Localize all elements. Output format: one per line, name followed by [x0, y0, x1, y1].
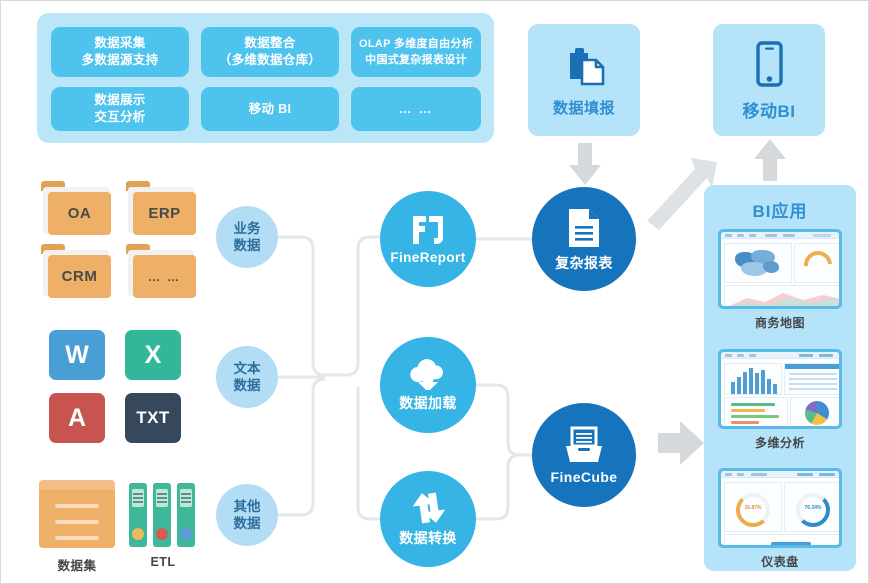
category-business-data[interactable]: 业务 数据 — [216, 206, 278, 268]
process-label: FineReport — [390, 250, 465, 265]
process-data-transform[interactable]: 数据转换 — [380, 471, 476, 567]
process-label: 复杂报表 — [555, 253, 613, 273]
category-line1: 文本 — [234, 360, 261, 377]
binder-dot — [180, 528, 192, 540]
dashboard-toolbar — [721, 232, 839, 239]
swap-arrows-icon — [408, 491, 448, 525]
folder-label: ERP — [133, 192, 196, 235]
dataset-label: 数据集 — [29, 555, 125, 574]
process-finecube[interactable]: FineCube — [532, 403, 636, 507]
source-folder-more[interactable]: … … — [126, 244, 196, 298]
area-chart-pane — [724, 285, 839, 306]
gauge-value: 35.87% — [725, 505, 781, 511]
gauge-pane-right: 76.34% — [784, 482, 839, 532]
capability-card-line1: 数据展示 — [94, 92, 145, 109]
capability-card-line2: （多维数据仓库） — [219, 52, 321, 69]
bi-thumbnail-dashboard[interactable]: 35.87% 76.34% 仪表盘 — [718, 468, 842, 570]
file-tile-word[interactable]: W — [49, 330, 105, 380]
category-line2: 数据 — [234, 377, 261, 394]
binder-line — [181, 497, 191, 499]
clipboard-document-icon — [560, 43, 608, 91]
category-text-data[interactable]: 文本 数据 — [216, 346, 278, 408]
binder-dot — [132, 528, 144, 540]
process-label: FineCube — [551, 469, 618, 485]
dashboard-screen — [721, 232, 839, 306]
source-folder-oa[interactable]: OA — [41, 181, 111, 235]
cabinet-drawer — [55, 520, 99, 524]
capability-card-visualization[interactable]: 数据展示 交互分析 — [51, 87, 189, 131]
source-folder-erp[interactable]: ERP — [126, 181, 196, 235]
capability-card-line1: 移动 BI — [249, 101, 291, 118]
capability-card-data-integration[interactable]: 数据整合 （多维数据仓库） — [201, 27, 339, 77]
footer-pane — [724, 534, 839, 545]
arrow-finecube-to-bi — [658, 421, 704, 465]
process-label: 数据加载 — [399, 393, 457, 413]
dashboard-toolbar — [721, 352, 839, 359]
cabinet-drawer — [55, 504, 99, 508]
finereport-logo-icon — [410, 213, 446, 247]
capability-card-line1: … … — [399, 101, 433, 118]
feature-card-data-entry[interactable]: 数据填报 — [528, 24, 640, 136]
thumbnail-caption: 仪表盘 — [718, 553, 842, 570]
thumbnail-caption: 商务地图 — [718, 314, 842, 331]
gauge-pane-left: 35.87% — [724, 482, 782, 532]
process-complex-report[interactable]: 复杂报表 — [532, 187, 636, 291]
folder-label: … … — [133, 255, 196, 298]
map-pane — [724, 243, 792, 283]
thumbnail-caption: 多维分析 — [718, 434, 842, 451]
capability-card-data-collection[interactable]: 数据采集 多数据源支持 — [51, 27, 189, 77]
capability-card-mobile-bi[interactable]: 移动 BI — [201, 87, 339, 131]
document-lines-icon — [565, 206, 603, 250]
dashboard-screen: 35.87% 76.34% — [721, 471, 839, 545]
binder-line — [181, 493, 191, 495]
dashboard-toolbar — [721, 471, 839, 478]
tray-inbox-icon — [563, 426, 605, 466]
pie-chart-pane — [790, 397, 839, 426]
bi-application-panel: BI应用 — [704, 185, 856, 571]
bi-application-title: BI应用 — [704, 197, 856, 222]
gauge-value: 76.34% — [785, 505, 839, 511]
capability-card-more[interactable]: … … — [351, 87, 481, 131]
process-label: 数据转换 — [399, 528, 457, 548]
dashboard-screen — [721, 352, 839, 426]
arrow-data-entry-to-report — [569, 143, 601, 185]
source-folder-crm[interactable]: CRM — [41, 244, 111, 298]
binder-line — [157, 501, 167, 503]
process-data-load[interactable]: 数据加载 — [380, 337, 476, 433]
mobile-phone-icon — [747, 39, 791, 91]
binder-line — [133, 501, 143, 503]
etl-label: ETL — [125, 555, 201, 569]
cabinet-drawer — [55, 536, 99, 540]
capability-card-line2: 交互分析 — [94, 109, 145, 126]
file-tile-excel[interactable]: X — [125, 330, 181, 380]
table-pane — [784, 363, 839, 395]
thumbnail-frame: 35.87% 76.34% — [718, 468, 842, 548]
category-line2: 数据 — [234, 237, 261, 254]
etl-binders-icon[interactable] — [129, 483, 195, 547]
category-line2: 数据 — [234, 515, 261, 532]
capability-card-line1: 数据采集 — [82, 35, 159, 52]
category-line1: 其他 — [234, 498, 261, 515]
bar-chart-pane — [724, 363, 782, 395]
dataset-cabinet-icon[interactable] — [39, 480, 115, 548]
feature-card-label: 数据填报 — [553, 97, 615, 118]
feature-card-mobile-bi[interactable]: 移动BI — [713, 24, 825, 136]
capability-panel: 数据采集 多数据源支持 数据整合 （多维数据仓库） OLAP 多维度自由分析 中… — [37, 13, 494, 143]
etl-binder — [177, 483, 195, 547]
binder-line — [157, 497, 167, 499]
thumbnail-frame — [718, 349, 842, 429]
cloud-download-icon — [407, 358, 449, 390]
thumbnail-frame — [718, 229, 842, 309]
etl-binder — [129, 483, 147, 547]
capability-card-line1: OLAP 多维度自由分析 — [359, 36, 473, 52]
category-other-data[interactable]: 其他 数据 — [216, 484, 278, 546]
capability-card-line1: 数据整合 — [219, 35, 321, 52]
category-line1: 业务 — [234, 220, 261, 237]
capability-card-olap[interactable]: OLAP 多维度自由分析 中国式复杂报表设计 — [351, 27, 481, 77]
bi-thumbnail-multi-dim-analysis[interactable]: 多维分析 — [718, 349, 842, 451]
capability-card-line2: 中国式复杂报表设计 — [359, 52, 473, 68]
capability-card-line2: 多数据源支持 — [82, 52, 159, 69]
binder-line — [133, 493, 143, 495]
diagram-canvas: 数据采集 多数据源支持 数据整合 （多维数据仓库） OLAP 多维度自由分析 中… — [0, 0, 869, 584]
gauge-pane — [794, 243, 839, 283]
process-finereport[interactable]: FineReport — [380, 191, 476, 287]
feature-card-label: 移动BI — [743, 97, 796, 122]
file-tile-pdf[interactable]: A — [49, 393, 105, 443]
etl-binder — [153, 483, 171, 547]
arrow-bi-to-mobile — [754, 139, 786, 181]
binder-dot — [156, 528, 168, 540]
folder-label: OA — [48, 192, 111, 235]
file-tile-txt[interactable]: TXT — [125, 393, 181, 443]
binder-line — [157, 493, 167, 495]
binder-line — [181, 501, 191, 503]
binder-line — [133, 497, 143, 499]
folder-label: CRM — [48, 255, 111, 298]
hbar-chart-pane — [724, 397, 788, 426]
bi-thumbnail-business-map[interactable]: 商务地图 — [718, 229, 842, 331]
